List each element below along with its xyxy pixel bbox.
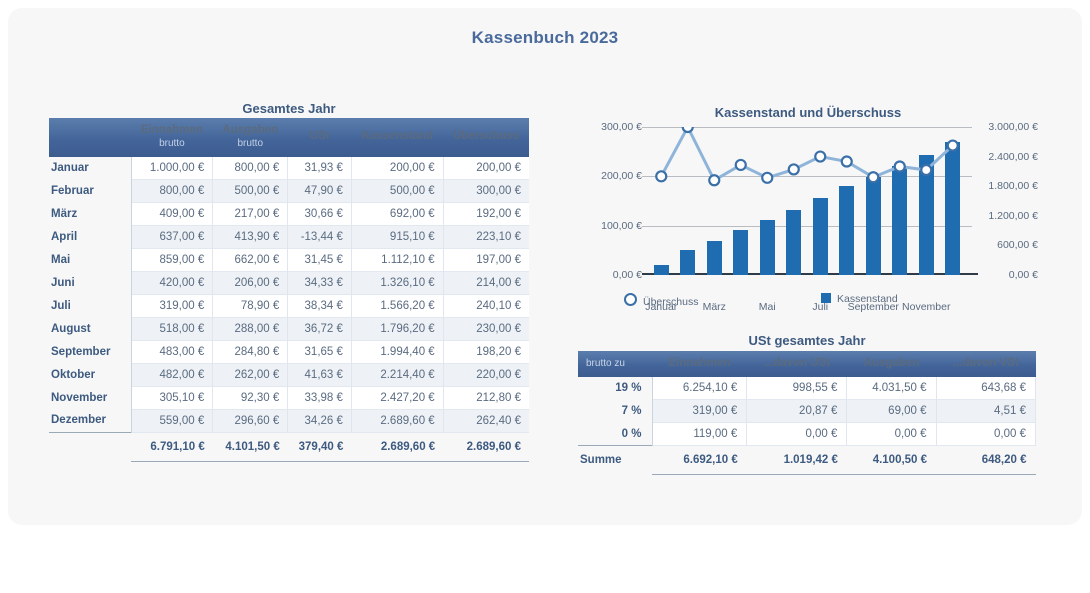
chart-ytick-label-left: 300,00 € <box>601 121 642 133</box>
row-month: April <box>49 225 131 248</box>
year-col-einnahmen-sub: brutto <box>139 138 205 150</box>
ust-col-ausgaben: Ausgaben <box>847 351 936 377</box>
cell-kassenstand: 2.427,20 € <box>351 386 443 409</box>
ust-table: brutto zu Einnahmen ...davon USt Ausgabe… <box>578 351 1036 475</box>
chart-ytick-label-left: 0,00 € <box>613 269 642 281</box>
ust-col-davon-ust: ...davon USt <box>747 351 847 377</box>
chart-plot-area: JanuarMärzMaiJuliSeptemberNovember <box>648 127 966 275</box>
cell-davon-ust: 20,87 € <box>747 400 847 423</box>
table-row: Februar800,00 €500,00 €47,90 €500,00 €30… <box>49 179 529 202</box>
chart-xtick-label: März <box>703 301 726 313</box>
cell-ust: 34,33 € <box>288 271 352 294</box>
cell-ueberschuss: 198,20 € <box>443 340 529 363</box>
table-row: Oktober482,00 €262,00 €41,63 €2.214,40 €… <box>49 363 529 386</box>
chart-xtick-label: Mai <box>759 301 776 313</box>
cell-ueberschuss: 262,40 € <box>443 409 529 432</box>
chart-ytick-label-right: 0,00 € <box>1009 269 1038 281</box>
table-row: 0 %119,00 €0,00 €0,00 €0,00 € <box>578 423 1036 446</box>
chart-xtick-label: November <box>902 301 950 313</box>
cell-einnahmen: 409,00 € <box>131 202 213 225</box>
cell-einnahmen: 483,00 € <box>131 340 213 363</box>
legend-item-ueberschuss: Überschuss <box>624 293 698 308</box>
cell-einnahmen: 800,00 € <box>131 179 213 202</box>
cell-ausgaben: 0,00 € <box>847 423 936 446</box>
totals-label <box>49 432 131 461</box>
cell-ust: -13,44 € <box>288 225 352 248</box>
cell-ausgaben: 662,00 € <box>213 248 288 271</box>
cell-ueberschuss: 240,10 € <box>443 294 529 317</box>
chart-right-axis: 0,00 €600,00 €1.200,00 €1.800,00 €2.400,… <box>972 127 1038 275</box>
cell-ust: 47,90 € <box>288 179 352 202</box>
cell-kassenstand: 1.566,20 € <box>351 294 443 317</box>
totals-davon-vst: 648,20 € <box>936 446 1035 475</box>
cell-ausgaben: 262,00 € <box>213 363 288 386</box>
totals-ausgaben: 4.101,50 € <box>213 432 288 461</box>
page-title: Kassenbuch 2023 <box>0 28 1090 48</box>
chart-data-point <box>736 160 746 170</box>
cell-ust: 31,93 € <box>288 157 352 180</box>
cell-ausgaben: 217,00 € <box>213 202 288 225</box>
row-rate: 19 % <box>578 377 652 400</box>
chart-ytick-label-left: 100,00 € <box>601 220 642 232</box>
chart-data-point <box>921 165 931 175</box>
table-row: September483,00 €284,80 €31,65 €1.994,40… <box>49 340 529 363</box>
chart-title: Kassenstand und Überschuss <box>578 105 1038 120</box>
ust-table-title: USt gesamtes Jahr <box>578 333 1036 348</box>
totals-ueberschuss: 2.689,60 € <box>443 432 529 461</box>
table-row: 7 %319,00 €20,87 €69,00 €4,51 € <box>578 400 1036 423</box>
cell-einnahmen: 637,00 € <box>131 225 213 248</box>
ust-col-brutto-zu: brutto zu <box>578 351 652 377</box>
cell-einnahmen: 420,00 € <box>131 271 213 294</box>
chart-data-point <box>789 164 799 174</box>
ust-table-body: 19 %6.254,10 €998,55 €4.031,50 €643,68 €… <box>578 377 1036 475</box>
chart-data-point <box>868 172 878 182</box>
cell-ust: 36,72 € <box>288 317 352 340</box>
cell-ausgaben: 92,30 € <box>213 386 288 409</box>
chart-ytick-label-right: 1.200,00 € <box>988 210 1038 222</box>
year-col-ueberschuss: Überschuss <box>443 118 529 157</box>
table-row: 19 %6.254,10 €998,55 €4.031,50 €643,68 € <box>578 377 1036 400</box>
year-col-ust: USt <box>288 118 352 157</box>
year-col-kassenstand: Kassenstand <box>351 118 443 157</box>
cell-einnahmen: 859,00 € <box>131 248 213 271</box>
year-table-header-row: Einnahmenbrutto Ausgabenbrutto USt Kasse… <box>49 118 529 157</box>
cell-ausgaben: 800,00 € <box>213 157 288 180</box>
cell-einnahmen: 319,00 € <box>131 294 213 317</box>
cell-ueberschuss: 200,00 € <box>443 157 529 180</box>
chart-ytick-label-right: 1.800,00 € <box>988 180 1038 192</box>
chart-data-point <box>815 152 825 162</box>
cell-davon-ust: 0,00 € <box>747 423 847 446</box>
table-row: Juni420,00 €206,00 €34,33 €1.326,10 €214… <box>49 271 529 294</box>
year-table: Einnahmenbrutto Ausgabenbrutto USt Kasse… <box>49 118 529 462</box>
cell-ausgaben: 78,90 € <box>213 294 288 317</box>
table-row: November305,10 €92,30 €33,98 €2.427,20 €… <box>49 386 529 409</box>
cell-ueberschuss: 192,00 € <box>443 202 529 225</box>
cell-kassenstand: 500,00 € <box>351 179 443 202</box>
cell-ust: 38,34 € <box>288 294 352 317</box>
totals-label: Summe <box>578 446 652 475</box>
chart: Kassenstand und Überschuss 0,00 €100,00 … <box>578 105 1038 305</box>
cell-ausgaben: 4.031,50 € <box>847 377 936 400</box>
table-row: März409,00 €217,00 €30,66 €692,00 €192,0… <box>49 202 529 225</box>
totals-ausgaben: 4.100,50 € <box>847 446 936 475</box>
cell-ust: 41,63 € <box>288 363 352 386</box>
cell-einnahmen: 119,00 € <box>652 423 747 446</box>
cell-ueberschuss: 197,00 € <box>443 248 529 271</box>
row-month: Mai <box>49 248 131 271</box>
chart-data-point <box>683 127 693 132</box>
cell-kassenstand: 2.689,60 € <box>351 409 443 432</box>
cell-kassenstand: 1.326,10 € <box>351 271 443 294</box>
cell-ausgaben: 296,60 € <box>213 409 288 432</box>
ust-col-einnahmen: Einnahmen <box>652 351 747 377</box>
year-table-title: Gesamtes Jahr <box>49 101 529 116</box>
chart-ytick-label-right: 2.400,00 € <box>988 151 1038 163</box>
cell-ueberschuss: 220,00 € <box>443 363 529 386</box>
ust-table-header-row: brutto zu Einnahmen ...davon USt Ausgabe… <box>578 351 1036 377</box>
ust-col-davon-vst: ...davon VSt <box>936 351 1035 377</box>
cell-einnahmen: 518,00 € <box>131 317 213 340</box>
year-table-body: Januar1.000,00 €800,00 €31,93 €200,00 €2… <box>49 157 529 462</box>
chart-left-axis: 0,00 €100,00 €200,00 €300,00 € <box>578 127 642 275</box>
cell-ueberschuss: 212,80 € <box>443 386 529 409</box>
row-month: Februar <box>49 179 131 202</box>
cell-davon-vst: 4,51 € <box>936 400 1035 423</box>
circle-marker-icon <box>624 293 637 306</box>
cell-ust: 31,65 € <box>288 340 352 363</box>
cell-kassenstand: 915,10 € <box>351 225 443 248</box>
row-month: Juli <box>49 294 131 317</box>
totals-davon-ust: 1.019,42 € <box>747 446 847 475</box>
chart-data-point <box>762 173 772 183</box>
cell-einnahmen: 6.254,10 € <box>652 377 747 400</box>
cell-kassenstand: 1.796,20 € <box>351 317 443 340</box>
table-row: Dezember559,00 €296,60 €34,26 €2.689,60 … <box>49 409 529 432</box>
square-marker-icon <box>821 293 831 303</box>
totals-ust: 379,40 € <box>288 432 352 461</box>
year-col-month <box>49 118 131 157</box>
table-row: Juli319,00 €78,90 €38,34 €1.566,20 €240,… <box>49 294 529 317</box>
cell-ausgaben: 288,00 € <box>213 317 288 340</box>
totals-einnahmen: 6.791,10 € <box>131 432 213 461</box>
cell-ust: 34,26 € <box>288 409 352 432</box>
year-col-ausgaben-sub: brutto <box>221 138 280 150</box>
cell-ausgaben: 69,00 € <box>847 400 936 423</box>
cell-kassenstand: 1.994,40 € <box>351 340 443 363</box>
cell-einnahmen: 1.000,00 € <box>131 157 213 180</box>
table-row: August518,00 €288,00 €36,72 €1.796,20 €2… <box>49 317 529 340</box>
year-col-einnahmen: Einnahmenbrutto <box>131 118 213 157</box>
row-month: Dezember <box>49 409 131 432</box>
cell-ust: 33,98 € <box>288 386 352 409</box>
row-rate: 0 % <box>578 423 652 446</box>
totals-einnahmen: 6.692,10 € <box>652 446 747 475</box>
totals-kassenstand: 2.689,60 € <box>351 432 443 461</box>
cell-einnahmen: 319,00 € <box>652 400 747 423</box>
cell-ust: 30,66 € <box>288 202 352 225</box>
year-table-totals-row: 6.791,10 € 4.101,50 € 379,40 € 2.689,60 … <box>49 432 529 461</box>
cell-kassenstand: 2.214,40 € <box>351 363 443 386</box>
row-month: September <box>49 340 131 363</box>
cell-kassenstand: 692,00 € <box>351 202 443 225</box>
chart-data-point <box>656 171 666 181</box>
chart-data-point <box>948 141 958 151</box>
table-row: Mai859,00 €662,00 €31,45 €1.112,10 €197,… <box>49 248 529 271</box>
cell-ueberschuss: 223,10 € <box>443 225 529 248</box>
cell-ust: 31,45 € <box>288 248 352 271</box>
year-col-ausgaben: Ausgabenbrutto <box>213 118 288 157</box>
cell-ausgaben: 500,00 € <box>213 179 288 202</box>
ust-table-totals-row: Summe 6.692,10 € 1.019,42 € 4.100,50 € 6… <box>578 446 1036 475</box>
cell-kassenstand: 1.112,10 € <box>351 248 443 271</box>
cell-einnahmen: 305,10 € <box>131 386 213 409</box>
row-month: August <box>49 317 131 340</box>
chart-data-point <box>842 157 852 167</box>
cell-ueberschuss: 230,00 € <box>443 317 529 340</box>
chart-ytick-label-right: 600,00 € <box>997 239 1038 251</box>
cell-kassenstand: 200,00 € <box>351 157 443 180</box>
table-row: April637,00 €413,90 €-13,44 €915,10 €223… <box>49 225 529 248</box>
chart-line-series <box>648 127 966 275</box>
cell-einnahmen: 482,00 € <box>131 363 213 386</box>
row-month: November <box>49 386 131 409</box>
cell-ausgaben: 206,00 € <box>213 271 288 294</box>
row-month: Oktober <box>49 363 131 386</box>
cell-davon-vst: 643,68 € <box>936 377 1035 400</box>
cell-davon-vst: 0,00 € <box>936 423 1035 446</box>
cell-ueberschuss: 300,00 € <box>443 179 529 202</box>
table-row: Januar1.000,00 €800,00 €31,93 €200,00 €2… <box>49 157 529 180</box>
row-month: Januar <box>49 157 131 180</box>
row-rate: 7 % <box>578 400 652 423</box>
row-month: März <box>49 202 131 225</box>
row-month: Juni <box>49 271 131 294</box>
chart-ytick-label-right: 3.000,00 € <box>988 121 1038 133</box>
cell-davon-ust: 998,55 € <box>747 377 847 400</box>
legend-item-kassenstand: Kassenstand <box>821 293 898 305</box>
chart-data-point <box>709 175 719 185</box>
chart-ytick-label-left: 200,00 € <box>601 170 642 182</box>
cell-ausgaben: 284,80 € <box>213 340 288 363</box>
chart-data-point <box>895 161 905 171</box>
cell-einnahmen: 559,00 € <box>131 409 213 432</box>
cell-ausgaben: 413,90 € <box>213 225 288 248</box>
cell-ueberschuss: 214,00 € <box>443 271 529 294</box>
